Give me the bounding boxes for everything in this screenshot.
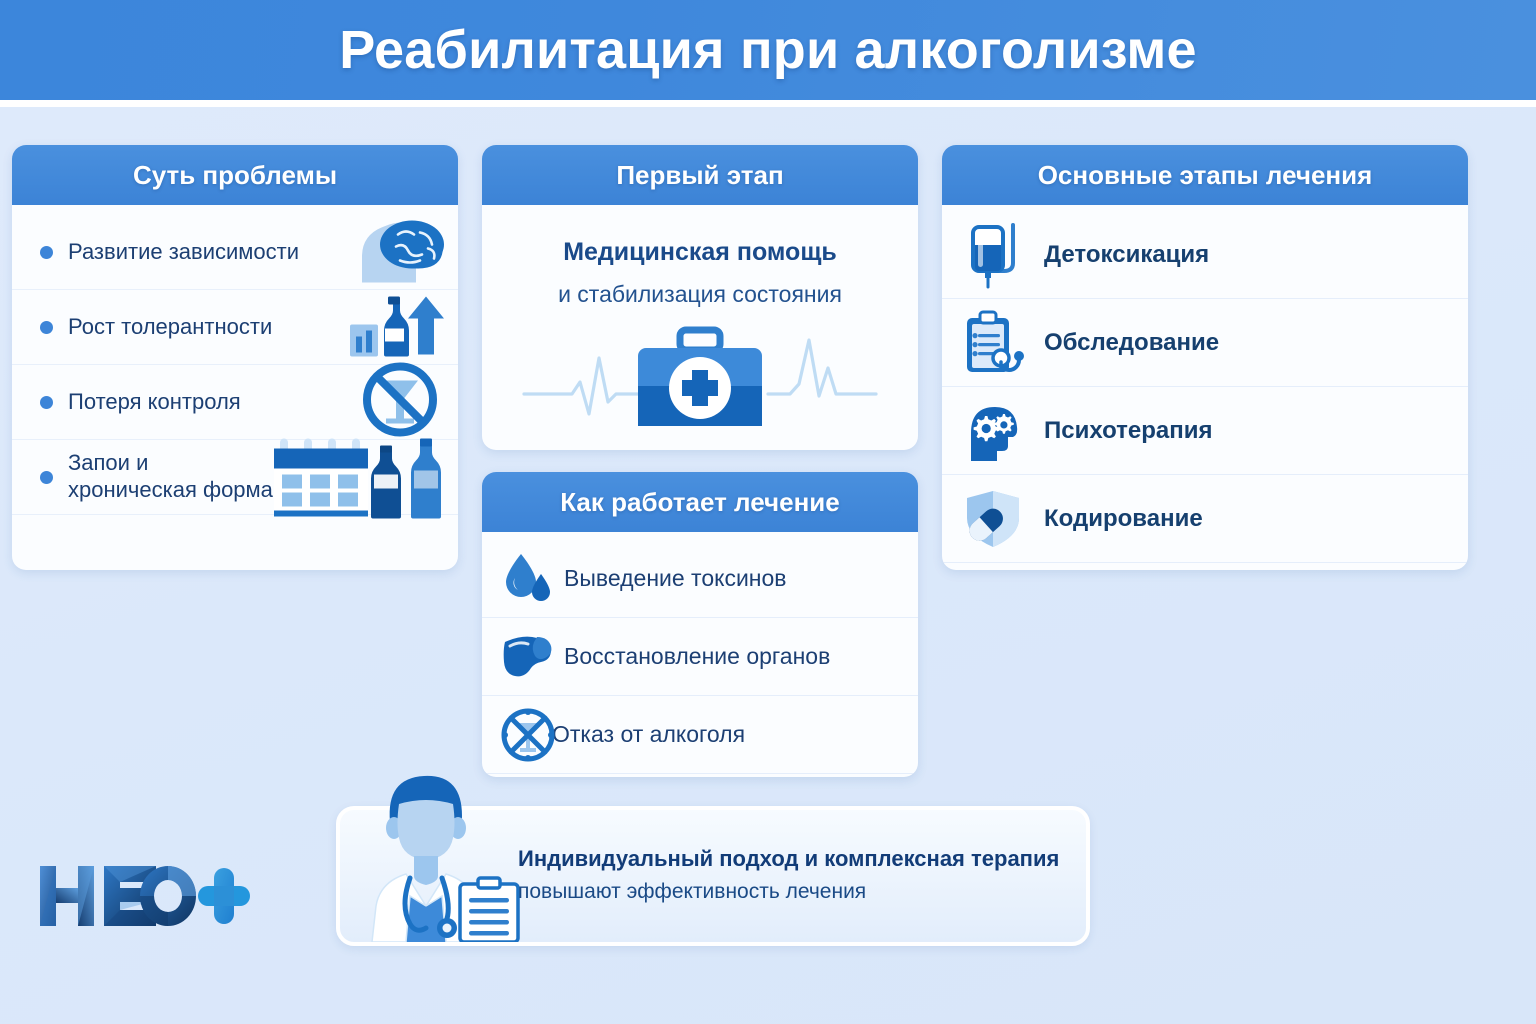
card-first-stage-header: Первый этап: [482, 145, 918, 205]
list-item[interactable]: Восстановление органов: [482, 618, 918, 696]
list-item[interactable]: Детоксикация: [942, 211, 1468, 299]
list-item-label: Кодирование: [1044, 505, 1203, 533]
neo-plus-logo[interactable]: [38, 860, 256, 937]
list-item-label: Отказ от алкоголя: [552, 721, 745, 748]
card-first-stage-body: Медицинская помощь и стабилизация состоя…: [482, 238, 918, 432]
list-item-label: Обследование: [1044, 329, 1219, 357]
list-item[interactable]: Обследование: [942, 299, 1468, 387]
card-problem-header: Суть проблемы: [12, 145, 458, 205]
list-item-label: Потеря контроля: [68, 389, 241, 416]
list-item-label: Развитие зависимости: [68, 239, 299, 266]
card-first-stage: Первый этап Медицинская помощь и стабили…: [482, 145, 918, 450]
liver-icon: [500, 634, 556, 680]
doctor-clipboard-icon: [352, 766, 522, 942]
brain-head-icon: [356, 217, 448, 288]
no-alcohol-circle-icon: [500, 707, 556, 763]
card-how-it-works: Как работает лечение Выведение токсинов: [482, 472, 918, 777]
card-problem-title: Суть проблемы: [133, 160, 337, 191]
card-how-it-works-header: Как работает лечение: [482, 472, 918, 532]
list-item[interactable]: Кодирование: [942, 475, 1468, 563]
head-gears-icon: [960, 399, 1028, 463]
bottom-callout-banner: Индивидуальный подход и комплексная тера…: [336, 806, 1090, 946]
list-item[interactable]: Отказ от алкоголя: [482, 696, 918, 774]
list-item[interactable]: Развитие зависимости: [12, 215, 458, 290]
list-item[interactable]: Рост толерантности: [12, 290, 458, 365]
list-item[interactable]: Психотерапия: [942, 387, 1468, 475]
list-item-label: Выведение токсинов: [564, 565, 787, 592]
list-item[interactable]: Запои и хроническая форма: [12, 440, 458, 515]
first-aid-kit-ecg-icon: [482, 322, 918, 432]
list-item[interactable]: Выведение токсинов: [482, 540, 918, 618]
bullet-dot-icon: [40, 396, 53, 409]
card-first-stage-title: Первый этап: [616, 160, 783, 191]
card-treatment-stages: Основные этапы лечения Детоксикация: [942, 145, 1468, 570]
page-header: Реабилитация при алкоголизме: [0, 0, 1536, 100]
card-problem-body: Развитие зависимости Рос: [12, 205, 458, 515]
card-treatment-stages-title: Основные этапы лечения: [1038, 160, 1373, 191]
bullet-dot-icon: [40, 471, 53, 484]
clipboard-checkup-icon: [960, 310, 1028, 376]
list-item-label: Психотерапия: [1044, 417, 1213, 445]
list-item-label: Детоксикация: [1044, 241, 1209, 269]
bottle-growth-arrow-icon: [348, 289, 448, 366]
bullet-dot-icon: [40, 246, 53, 259]
card-problem: Суть проблемы Развитие зависимости: [12, 145, 458, 570]
banner-line2: повышают эффективность лечения: [518, 880, 1059, 904]
header-divider-strip: [0, 100, 1536, 107]
list-item-label: Восстановление органов: [564, 643, 830, 670]
card-treatment-stages-header: Основные этапы лечения: [942, 145, 1468, 205]
list-item-label: Запои и хроническая форма: [68, 450, 273, 504]
first-stage-line1: Медицинская помощь: [482, 238, 918, 267]
water-drops-icon: [500, 552, 556, 606]
iv-drip-icon: [960, 221, 1028, 289]
card-treatment-stages-body: Детоксикация: [942, 205, 1468, 563]
card-how-it-works-body: Выведение токсинов Восстановление органо…: [482, 532, 918, 774]
card-how-it-works-title: Как работает лечение: [560, 487, 839, 518]
banner-text-block: Индивидуальный подход и комплексная тера…: [518, 846, 1059, 904]
list-item-label: Рост толерантности: [68, 314, 272, 341]
page-title: Реабилитация при алкоголизме: [339, 19, 1197, 81]
pill-shield-icon: [960, 488, 1028, 550]
first-stage-line2: и стабилизация состояния: [482, 281, 918, 308]
banner-line1: Индивидуальный подход и комплексная тера…: [518, 846, 1059, 872]
calendar-bottles-icon: [274, 427, 454, 528]
bullet-dot-icon: [40, 321, 53, 334]
